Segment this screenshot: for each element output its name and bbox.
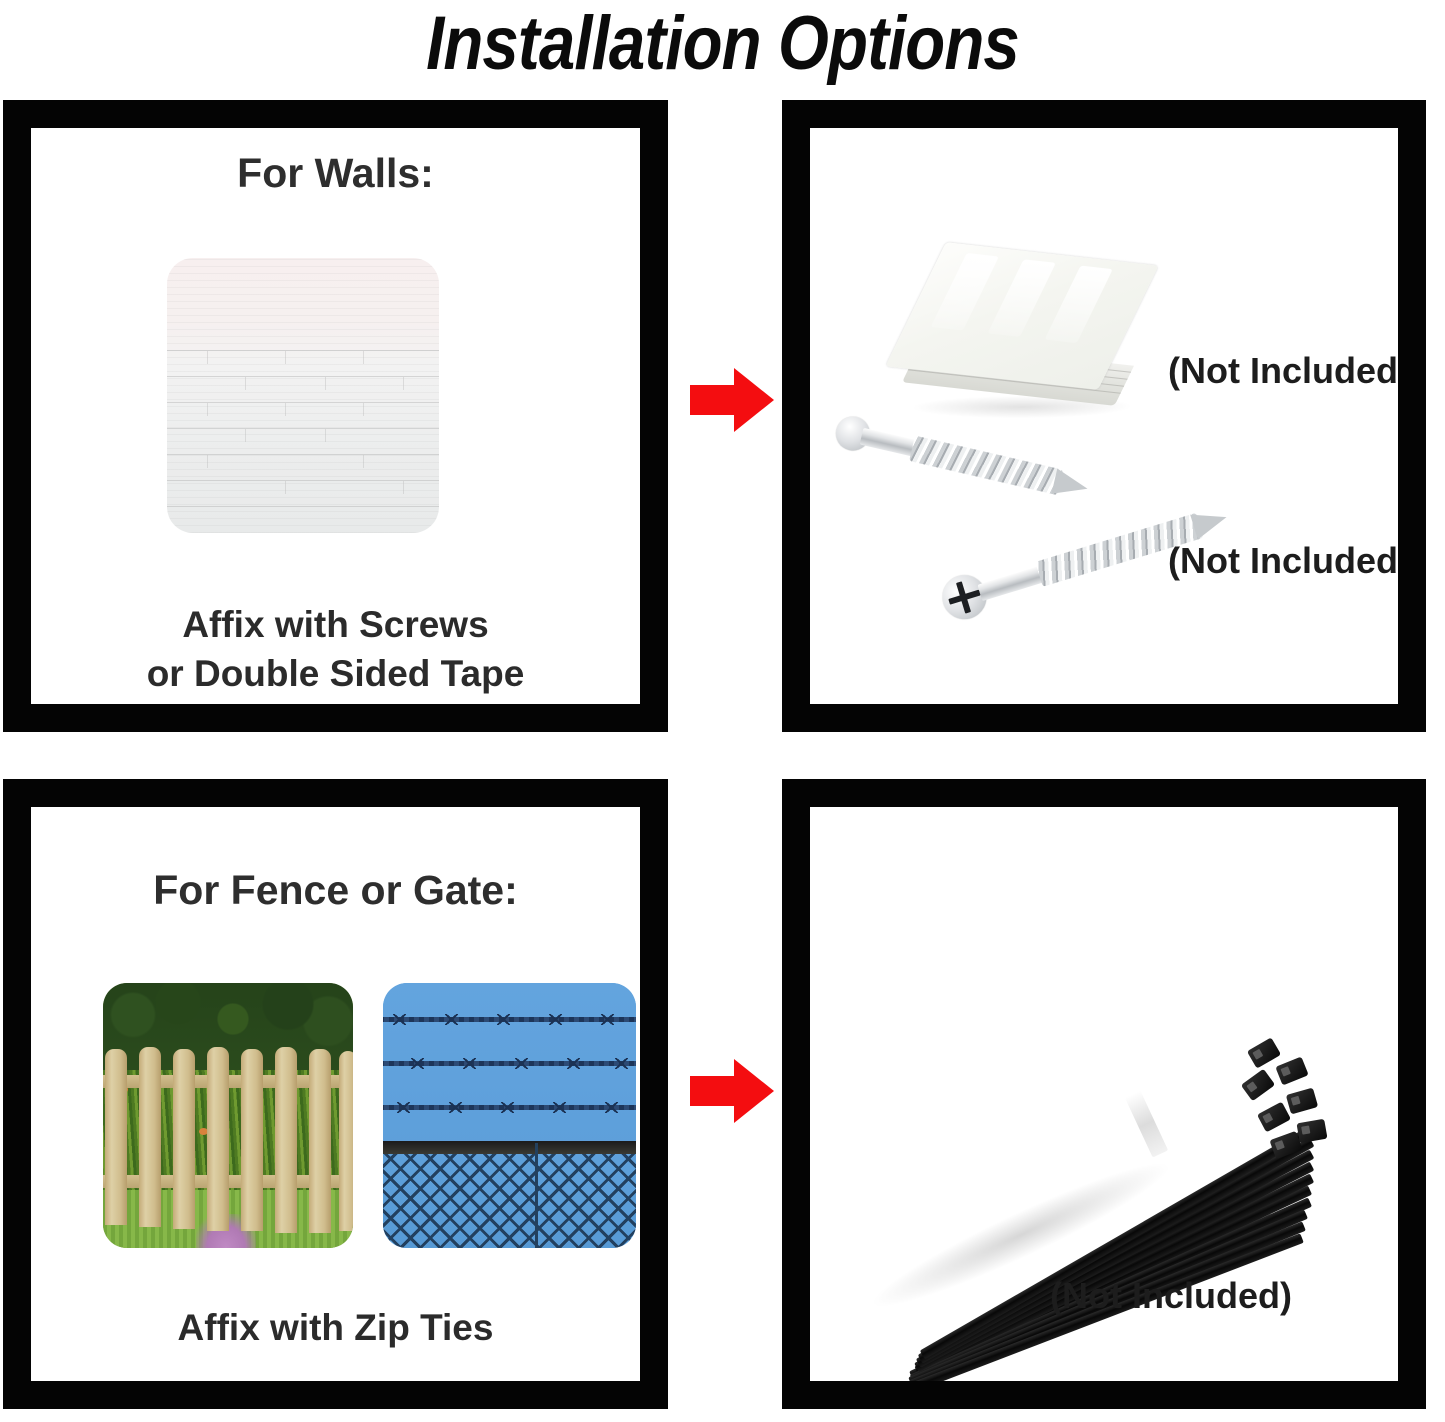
brick-joint: [403, 481, 404, 494]
wire-barb: [463, 1058, 476, 1069]
zip-ties-not-included-label: (Not Included): [1050, 1275, 1292, 1317]
brick-joint: [207, 351, 208, 364]
brick-joint: [325, 429, 326, 442]
white-brick-wall-swatch: [167, 258, 439, 533]
zip-tie-head: [1257, 1102, 1291, 1133]
brick-joint: [325, 377, 326, 390]
wire-barb: [393, 1014, 406, 1025]
red-right-arrow-icon-top: [690, 368, 774, 432]
fence-top-rail: [383, 1141, 636, 1154]
fence-picket: [173, 1049, 195, 1229]
brick-line: [167, 506, 439, 507]
mesh-support-post: [535, 1143, 538, 1248]
page-title: Installation Options: [101, 0, 1344, 90]
panel-for-walls-content: For Walls: Affix with S: [31, 128, 640, 704]
arrow-body: [690, 385, 738, 415]
wire-barb: [601, 1014, 614, 1025]
brick-joint: [245, 377, 246, 390]
wire-barb: [515, 1058, 528, 1069]
brick-joint: [207, 455, 208, 468]
zip-tie-head-hole: [1246, 1081, 1257, 1092]
wire-barb: [411, 1058, 424, 1069]
screw-threads: [909, 436, 1063, 496]
zip-tie-head: [1286, 1088, 1318, 1115]
fence-picket: [207, 1047, 229, 1231]
wire-barb: [553, 1102, 566, 1113]
brick-line: [167, 480, 439, 481]
panel-fence-hardware: (Not Included): [782, 779, 1426, 1409]
wall-grain-texture: [167, 258, 439, 533]
zip-tie-head-hole: [1262, 1113, 1273, 1124]
double-sided-tape-stack: [892, 254, 1158, 430]
screw-tip: [1051, 468, 1090, 501]
zip-tie-head: [1275, 1056, 1308, 1085]
zip-tie-head-hole: [1280, 1066, 1290, 1076]
red-right-arrow-icon-bottom: [690, 1059, 774, 1123]
wire-barb: [615, 1058, 628, 1069]
screw-tip: [1190, 505, 1230, 540]
arrow-head: [734, 368, 774, 432]
zip-tie-head-hole: [1291, 1096, 1301, 1106]
brick-joint: [363, 403, 364, 416]
brick-joint: [363, 455, 364, 468]
for-walls-caption-line1: Affix with Screws: [31, 600, 640, 649]
chain-link-barbed-wire-fence-photo: [383, 983, 636, 1248]
brick-line: [167, 376, 439, 377]
zip-tie-head-hole: [1275, 1140, 1285, 1150]
arrow-head: [734, 1059, 774, 1123]
brick-joint: [363, 351, 364, 364]
wire-barb: [501, 1102, 514, 1113]
fence-picket: [275, 1047, 297, 1233]
fence-picket: [105, 1049, 127, 1225]
wire-barb: [605, 1102, 618, 1113]
zip-tie-head: [1296, 1119, 1327, 1144]
chain-link-mesh: [383, 1154, 636, 1248]
wire-barb: [449, 1102, 462, 1113]
zip-tie-head-hole: [1301, 1125, 1310, 1134]
wire-barb: [567, 1058, 580, 1069]
zip-tie-head: [1247, 1037, 1281, 1068]
panel-for-walls: For Walls: Affix with S: [3, 100, 668, 732]
wire-barb: [397, 1102, 410, 1113]
brick-line: [167, 428, 439, 429]
wooden-picket-fence-photo: [103, 983, 353, 1248]
wire-barb: [549, 1014, 562, 1025]
panel-for-fence-or-gate: For Fence or Gate:: [3, 779, 668, 1409]
wire-barb: [445, 1014, 458, 1025]
fence-picket: [339, 1051, 353, 1231]
brick-joint: [285, 351, 286, 364]
for-walls-heading: For Walls:: [31, 150, 640, 197]
zip-tie-head: [1241, 1069, 1275, 1102]
tape-sheen: [1045, 266, 1113, 344]
tape-sheen: [931, 253, 999, 331]
brick-joint: [285, 481, 286, 494]
arrow-body: [690, 1076, 738, 1106]
for-fence-heading: For Fence or Gate:: [31, 867, 640, 914]
for-fence-caption: Affix with Zip Ties: [31, 1303, 640, 1352]
panel-wall-hardware: (Not Included) (Not Included): [782, 100, 1426, 732]
fence-picket: [309, 1049, 331, 1233]
brick-joint: [403, 377, 404, 390]
brick-joint: [207, 403, 208, 416]
tape-sheen: [988, 259, 1056, 337]
brick-joint: [285, 403, 286, 416]
zip-tie-head-hole: [1252, 1049, 1263, 1060]
brick-joint: [245, 429, 246, 442]
zip-ties-binding-band: [1125, 1090, 1168, 1157]
fence-picket: [139, 1047, 161, 1227]
for-walls-caption-line2: or Double Sided Tape: [31, 649, 640, 698]
panel-wall-hardware-content: (Not Included) (Not Included): [810, 128, 1398, 704]
screws-not-included-label: (Not Included): [1168, 540, 1398, 582]
fence-picket: [241, 1049, 263, 1231]
wire-barb: [497, 1014, 510, 1025]
panel-for-fence-content: For Fence or Gate:: [31, 807, 640, 1381]
black-zip-ties-bundle: [846, 925, 1366, 1325]
panel-fence-hardware-content: (Not Included): [810, 807, 1398, 1381]
tape-not-included-label: (Not Included): [1168, 350, 1398, 392]
